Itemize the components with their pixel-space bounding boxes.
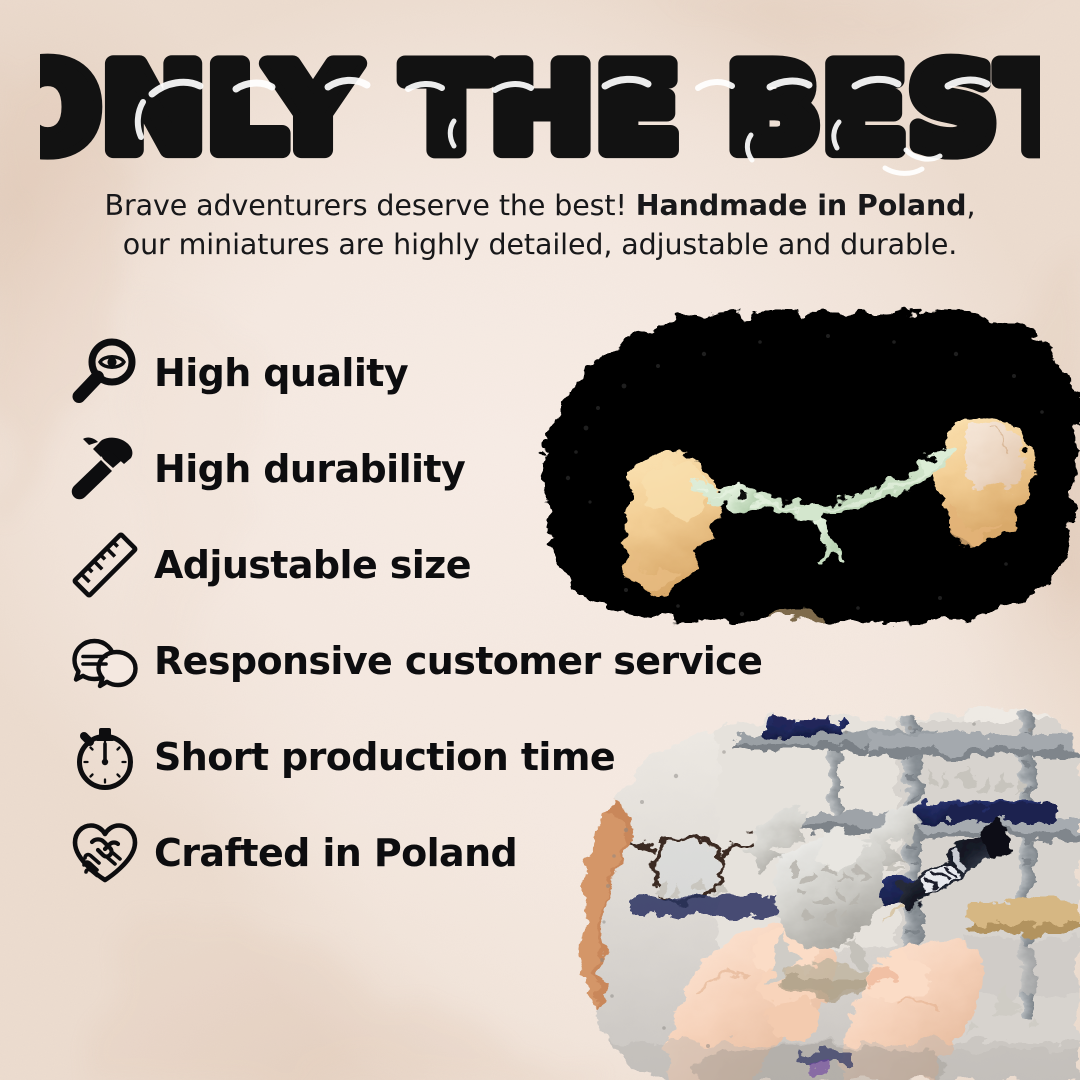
feature-item-adjustable-size: Adjustable size [62, 517, 792, 613]
subtitle-line-2: our miniatures are highly detailed, adju… [0, 225, 1080, 264]
promo-poster: ONLY THE BEST Br [0, 0, 1080, 1080]
feature-label: Responsive customer service [154, 639, 762, 683]
left-hand [667, 925, 834, 1080]
speech-bubbles-icon [62, 618, 148, 704]
right-hand [843, 817, 1015, 1080]
stopwatch-icon [62, 714, 148, 800]
feature-list: High quality High durability [62, 325, 792, 901]
feature-label: Adjustable size [154, 543, 471, 587]
subtitle: Brave adventurers deserve the best! Hand… [0, 186, 1080, 265]
hammer-icon [62, 426, 148, 512]
feature-label: Crafted in Poland [154, 831, 517, 875]
subtitle-tail: , [966, 189, 975, 222]
feature-label: High durability [154, 447, 465, 491]
subtitle-highlight: Handmade in Poland [636, 189, 967, 222]
shelf-miniatures [966, 980, 1042, 1034]
feature-label: High quality [154, 351, 408, 395]
subtitle-lead: Brave adventurers deserve the best! [105, 189, 636, 222]
feature-item-customer-service: Responsive customer service [62, 613, 792, 709]
feature-item-high-quality: High quality [62, 325, 792, 421]
handshake-heart-icon [62, 810, 148, 896]
feature-item-crafted-in-poland: Crafted in Poland [62, 805, 792, 901]
feature-label: Short production time [154, 735, 615, 779]
subtitle-line-1: Brave adventurers deserve the best! Hand… [0, 186, 1080, 225]
feature-item-production-time: Short production time [62, 709, 792, 805]
page-title: ONLY THE BEST [40, 42, 1040, 182]
feature-item-high-durability: High durability [62, 421, 792, 517]
headline-container: ONLY THE BEST [0, 42, 1080, 187]
page-title-text: ONLY THE BEST [40, 42, 1040, 179]
ruler-icon [62, 522, 148, 608]
magnifier-eye-icon [62, 330, 148, 416]
